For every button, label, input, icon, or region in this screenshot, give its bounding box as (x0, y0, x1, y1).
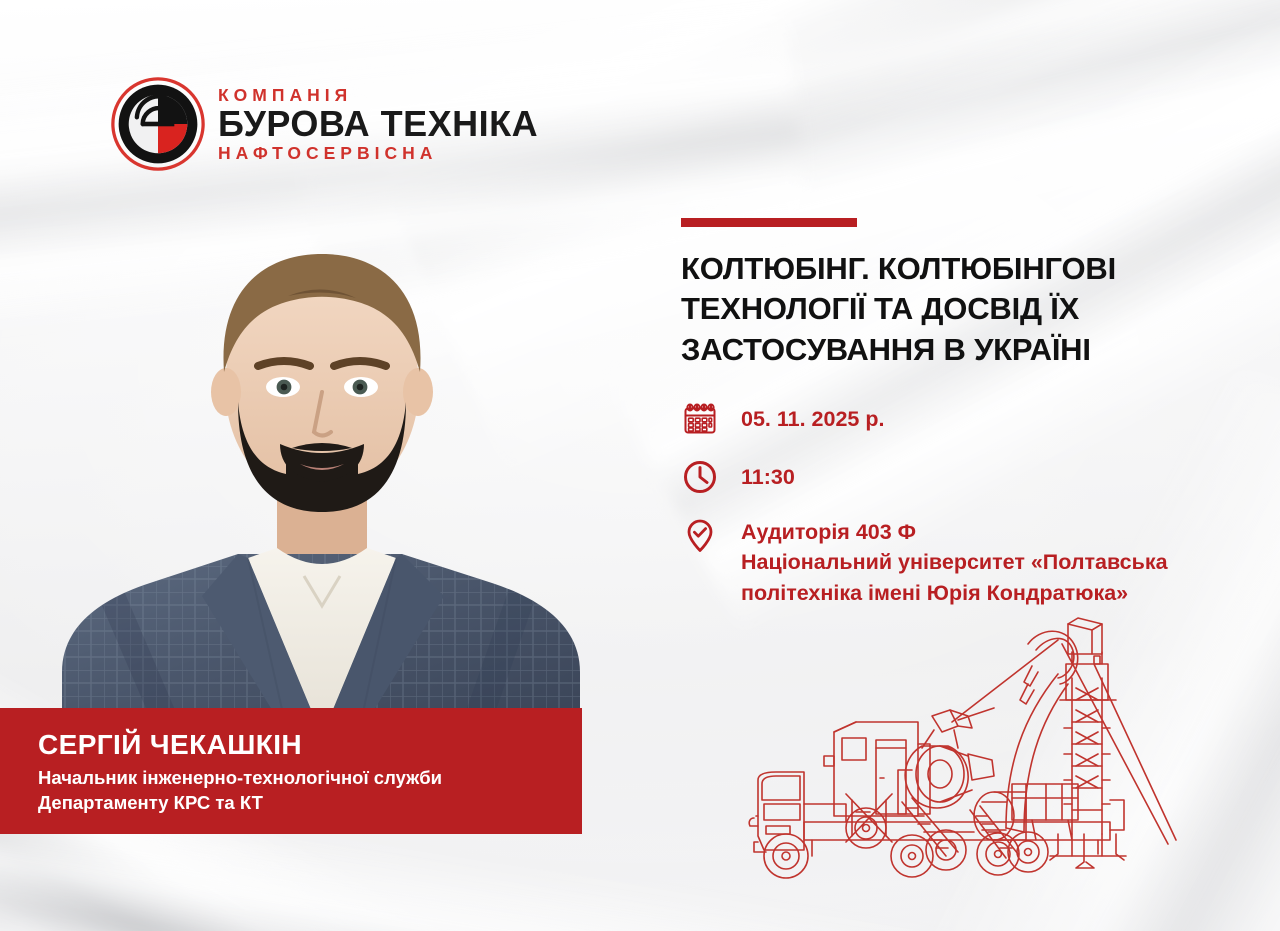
logo-wordmark: КОМПАНІЯ БУРОВА ТЕХНІКА НАФТОСЕРВІСНА (218, 86, 538, 163)
event-time: 11:30 (741, 458, 795, 493)
event-details: КОЛТЮБІНГ. КОЛТЮБІНГОВІ ТЕХНОЛОГІЇ ТА ДО… (681, 218, 1261, 608)
event-location-line-2: Національний університет «Полтавська (741, 547, 1168, 578)
map-pin-check-icon (681, 516, 719, 554)
event-location-row: Аудиторія 403 Ф Національний університет… (681, 516, 1261, 609)
event-date-row: 05. 11. 2025 р. (681, 400, 1261, 438)
speaker-role-line-2: Департаменту КРС та КТ (38, 792, 263, 813)
event-info-list: 05. 11. 2025 р. 11:30 (681, 400, 1261, 609)
speaker-name-banner: СЕРГІЙ ЧЕКАШКІН Начальник інженерно-техн… (0, 708, 582, 834)
speaker-role-line-1: Начальник інженерно-технологічної служби (38, 767, 442, 788)
speaker-portrait (52, 176, 592, 736)
drill-swirl-circle-logo-icon (110, 76, 206, 172)
event-location: Аудиторія 403 Ф Національний університет… (741, 516, 1168, 609)
event-date: 05. 11. 2025 р. (741, 400, 884, 435)
speaker-name: СЕРГІЙ ЧЕКАШКІН (38, 729, 562, 760)
clock-icon (681, 458, 719, 496)
logo-line-kompaniya: КОМПАНІЯ (218, 86, 538, 104)
event-poster: КОМПАНІЯ БУРОВА ТЕХНІКА НАФТОСЕРВІСНА (0, 0, 1280, 931)
event-title: КОЛТЮБІНГ. КОЛТЮБІНГОВІ ТЕХНОЛОГІЇ ТА ДО… (681, 249, 1181, 370)
calendar-icon (681, 400, 719, 438)
coiled-tubing-rig-truck-illustration (706, 604, 1206, 894)
logo-line-burova-tehnika: БУРОВА ТЕХНІКА (218, 106, 538, 142)
logo-line-naftoservisna: НАФТОСЕРВІСНА (218, 144, 538, 162)
event-location-line-1: Аудиторія 403 Ф (741, 517, 1168, 548)
company-logo: КОМПАНІЯ БУРОВА ТЕХНІКА НАФТОСЕРВІСНА (110, 76, 538, 172)
accent-bar (681, 218, 857, 227)
event-time-row: 11:30 (681, 458, 1261, 496)
speaker-role: Начальник інженерно-технологічної служби… (38, 766, 562, 815)
